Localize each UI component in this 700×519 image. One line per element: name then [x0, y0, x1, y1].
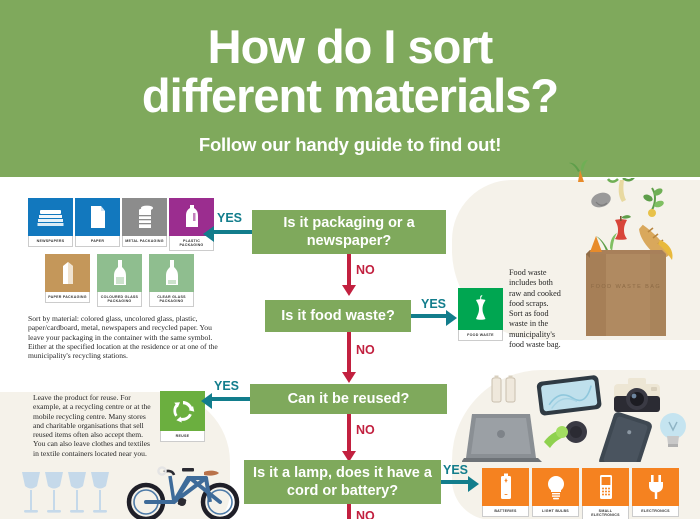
symbol-label: SMALL ELECTRONICS: [582, 506, 629, 519]
no-arrow-stem-reuse: [347, 414, 351, 453]
symbol-label: PAPER: [75, 236, 120, 247]
symbol-tile-metal-packaging: METAL PACKAGING: [122, 198, 167, 247]
symbol-tile-plastic-packaging: PLASTIC PACKAGING: [169, 198, 214, 251]
lightbulb-icon: [532, 468, 579, 506]
infographic-page: How do I sort different materials? Follo…: [0, 0, 700, 519]
title-line-1: How do I sort: [208, 20, 493, 73]
wine-glasses-illustration: [18, 470, 110, 519]
reuse-description: Leave the product for reuse. For example…: [33, 393, 153, 458]
recycle-arrows-icon: [160, 391, 205, 431]
food-waste-description: Food waste includes both raw and cooked …: [509, 268, 563, 350]
no-label-lamp: NO: [356, 509, 375, 519]
page-subtitle: Follow our handy guide to find out!: [0, 134, 700, 156]
no-arrow-stem-lamp: [347, 504, 351, 519]
decision-box-packaging[interactable]: Is it packaging or a newspaper?: [252, 210, 446, 254]
carton-icon: [45, 254, 90, 292]
decision-box-reused[interactable]: Can it be reused?: [250, 384, 447, 414]
symbol-label: METAL PACKAGING: [122, 236, 167, 247]
no-label-packaging: NO: [356, 263, 375, 277]
yes-arrow-head-reuse: [201, 393, 212, 409]
decision-box-food-waste[interactable]: Is it food waste?: [265, 300, 411, 332]
yes-arrow-stem-electronics: [441, 480, 469, 484]
symbol-tile-paper-packaging: PAPER PACKAGING: [45, 254, 90, 303]
yes-arrow-stem-packaging: [214, 230, 252, 234]
symbol-label: CLEAR GLASS PACKAGING: [149, 292, 194, 307]
symbol-tile-coloured-glass-packaging: COLOURED GLASS PACKAGING: [97, 254, 142, 307]
mobile-phone-icon: [582, 468, 629, 506]
symbol-tile-paper: PAPER: [75, 198, 120, 247]
yes-arrow-stem-reuse: [212, 397, 250, 401]
apple-core-icon: [458, 288, 503, 330]
symbol-tile-newspapers: NEWSPAPERS: [28, 198, 73, 247]
no-label-food-waste: NO: [356, 343, 375, 357]
symbol-tile-electronics: ELECTRONICS: [632, 468, 679, 517]
symbol-label: FOOD WASTE: [458, 330, 503, 341]
clear-bottle-icon: [149, 254, 194, 292]
yes-arrow-head-packaging: [203, 226, 214, 242]
symbol-tile-reuse: REUSE: [160, 391, 205, 442]
yes-label-electronics: YES: [443, 463, 468, 477]
no-arrow-stem-packaging: [347, 254, 351, 287]
symbol-tile-small-electronics: SMALL ELECTRONICS: [582, 468, 629, 519]
yes-arrow-head-electronics: [468, 476, 479, 492]
electronics-illustration: [462, 372, 700, 462]
page-title: How do I sort different materials?: [0, 0, 700, 120]
title-line-2: different materials?: [142, 69, 558, 122]
newspaper-stack-icon: [28, 198, 73, 236]
food-waste-bag-illustration: FOOD WASTE BAG: [560, 178, 700, 340]
symbol-label: PAPER PACKAGING: [45, 292, 90, 303]
symbol-label: ELECTRONICS: [632, 506, 679, 517]
symbol-tile-batteries: BATTERIES: [482, 468, 529, 517]
symbol-label: LIGHT BULBS: [532, 506, 579, 517]
svg-text:FOOD WASTE BAG: FOOD WASTE BAG: [591, 284, 661, 290]
power-plug-icon: [632, 468, 679, 506]
no-arrow-head-packaging: [342, 285, 356, 296]
symbol-label: BATTERIES: [482, 506, 529, 517]
symbol-label: NEWSPAPERS: [28, 236, 73, 247]
battery-icon: [482, 468, 529, 506]
glass-bottle-icon: [97, 254, 142, 292]
symbol-tile-food-waste: FOOD WASTE: [458, 288, 503, 341]
bicycle-illustration: [118, 462, 250, 519]
page-header: How do I sort different materials? Follo…: [0, 0, 700, 177]
symbol-tile-light-bulbs: LIGHT BULBS: [532, 468, 579, 517]
paper-sheet-icon: [75, 198, 120, 236]
packaging-description: Sort by material: colored glass, uncolor…: [28, 314, 224, 360]
no-label-reuse: NO: [356, 423, 375, 437]
yes-arrow-stem-food-waste: [411, 314, 447, 318]
symbol-tile-clear-glass-packaging: CLEAR GLASS PACKAGING: [149, 254, 194, 307]
yes-label-reuse: YES: [214, 379, 239, 393]
metal-can-icon: [122, 198, 167, 236]
no-arrow-head-food-waste: [342, 372, 356, 383]
decision-box-lamp-cord-battery[interactable]: Is it a lamp, does it have a cord or bat…: [244, 460, 441, 504]
yes-arrow-head-food-waste: [446, 310, 457, 326]
yes-label-packaging: YES: [217, 211, 242, 225]
symbol-label: REUSE: [160, 431, 205, 442]
symbol-label: COLOURED GLASS PACKAGING: [97, 292, 142, 307]
no-arrow-stem-food-waste: [347, 332, 351, 374]
yes-label-food-waste: YES: [421, 297, 446, 311]
